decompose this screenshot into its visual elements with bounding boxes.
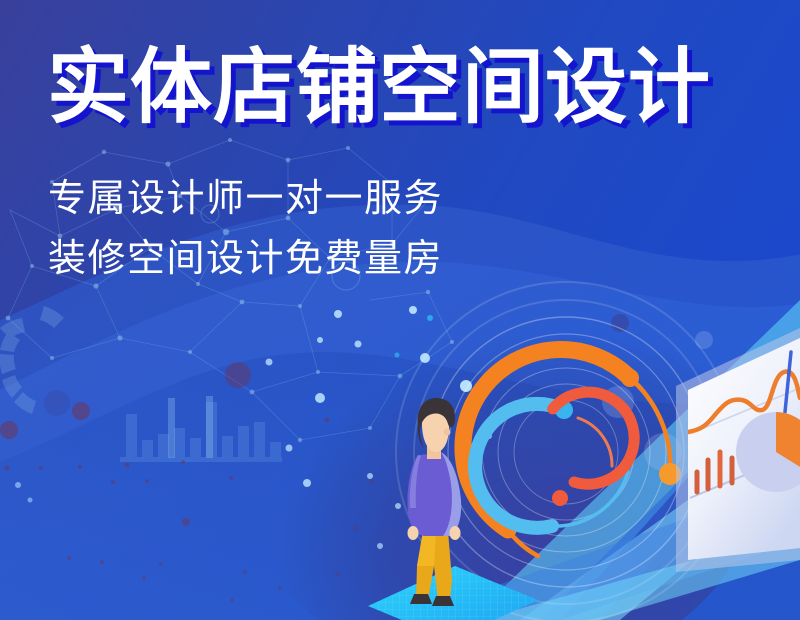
standing-person (0, 0, 800, 620)
promo-banner: 实体店铺空间设计 专属设计师一对一服务 装修空间设计免费量房 (0, 0, 800, 620)
